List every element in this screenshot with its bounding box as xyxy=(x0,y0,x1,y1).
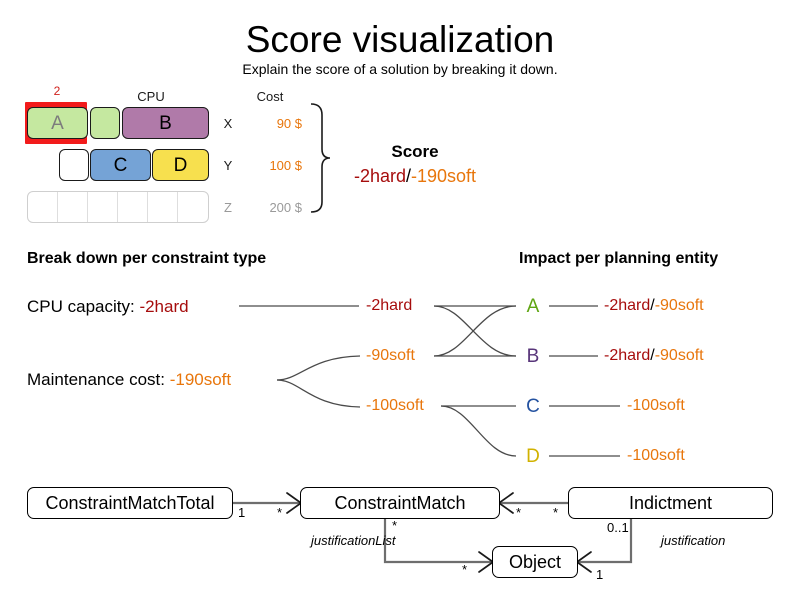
uml-multiplicity-indictment-zero-one: 0..1 xyxy=(607,520,629,535)
uml-box-constraint-match-label: ConstraintMatch xyxy=(334,493,465,514)
uml-multiplicity-indictment-star-right: * xyxy=(553,505,558,520)
uml-box-object[interactable]: Object xyxy=(492,546,578,578)
uml-box-constraint-match-total-label: ConstraintMatchTotal xyxy=(45,493,214,514)
uml-role-justification: justification xyxy=(661,533,725,548)
uml-multiplicity-object-one: 1 xyxy=(596,567,603,582)
uml-box-indictment[interactable]: Indictment xyxy=(568,487,773,519)
uml-role-justification-list: justificationList xyxy=(311,533,396,548)
uml-box-constraint-match[interactable]: ConstraintMatch xyxy=(300,487,500,519)
uml-multiplicity-cmt-one: 1 xyxy=(238,505,245,520)
uml-multiplicity-indictment-star-left: * xyxy=(516,505,521,520)
uml-box-constraint-match-total[interactable]: ConstraintMatchTotal xyxy=(27,487,233,519)
uml-multiplicity-cm-object-star-bottom: * xyxy=(462,562,467,577)
uml-box-object-label: Object xyxy=(509,552,561,573)
uml-multiplicity-cm-star: * xyxy=(277,505,282,520)
uml-box-indictment-label: Indictment xyxy=(629,493,712,514)
uml-multiplicity-cm-object-star-top: * xyxy=(392,518,397,533)
